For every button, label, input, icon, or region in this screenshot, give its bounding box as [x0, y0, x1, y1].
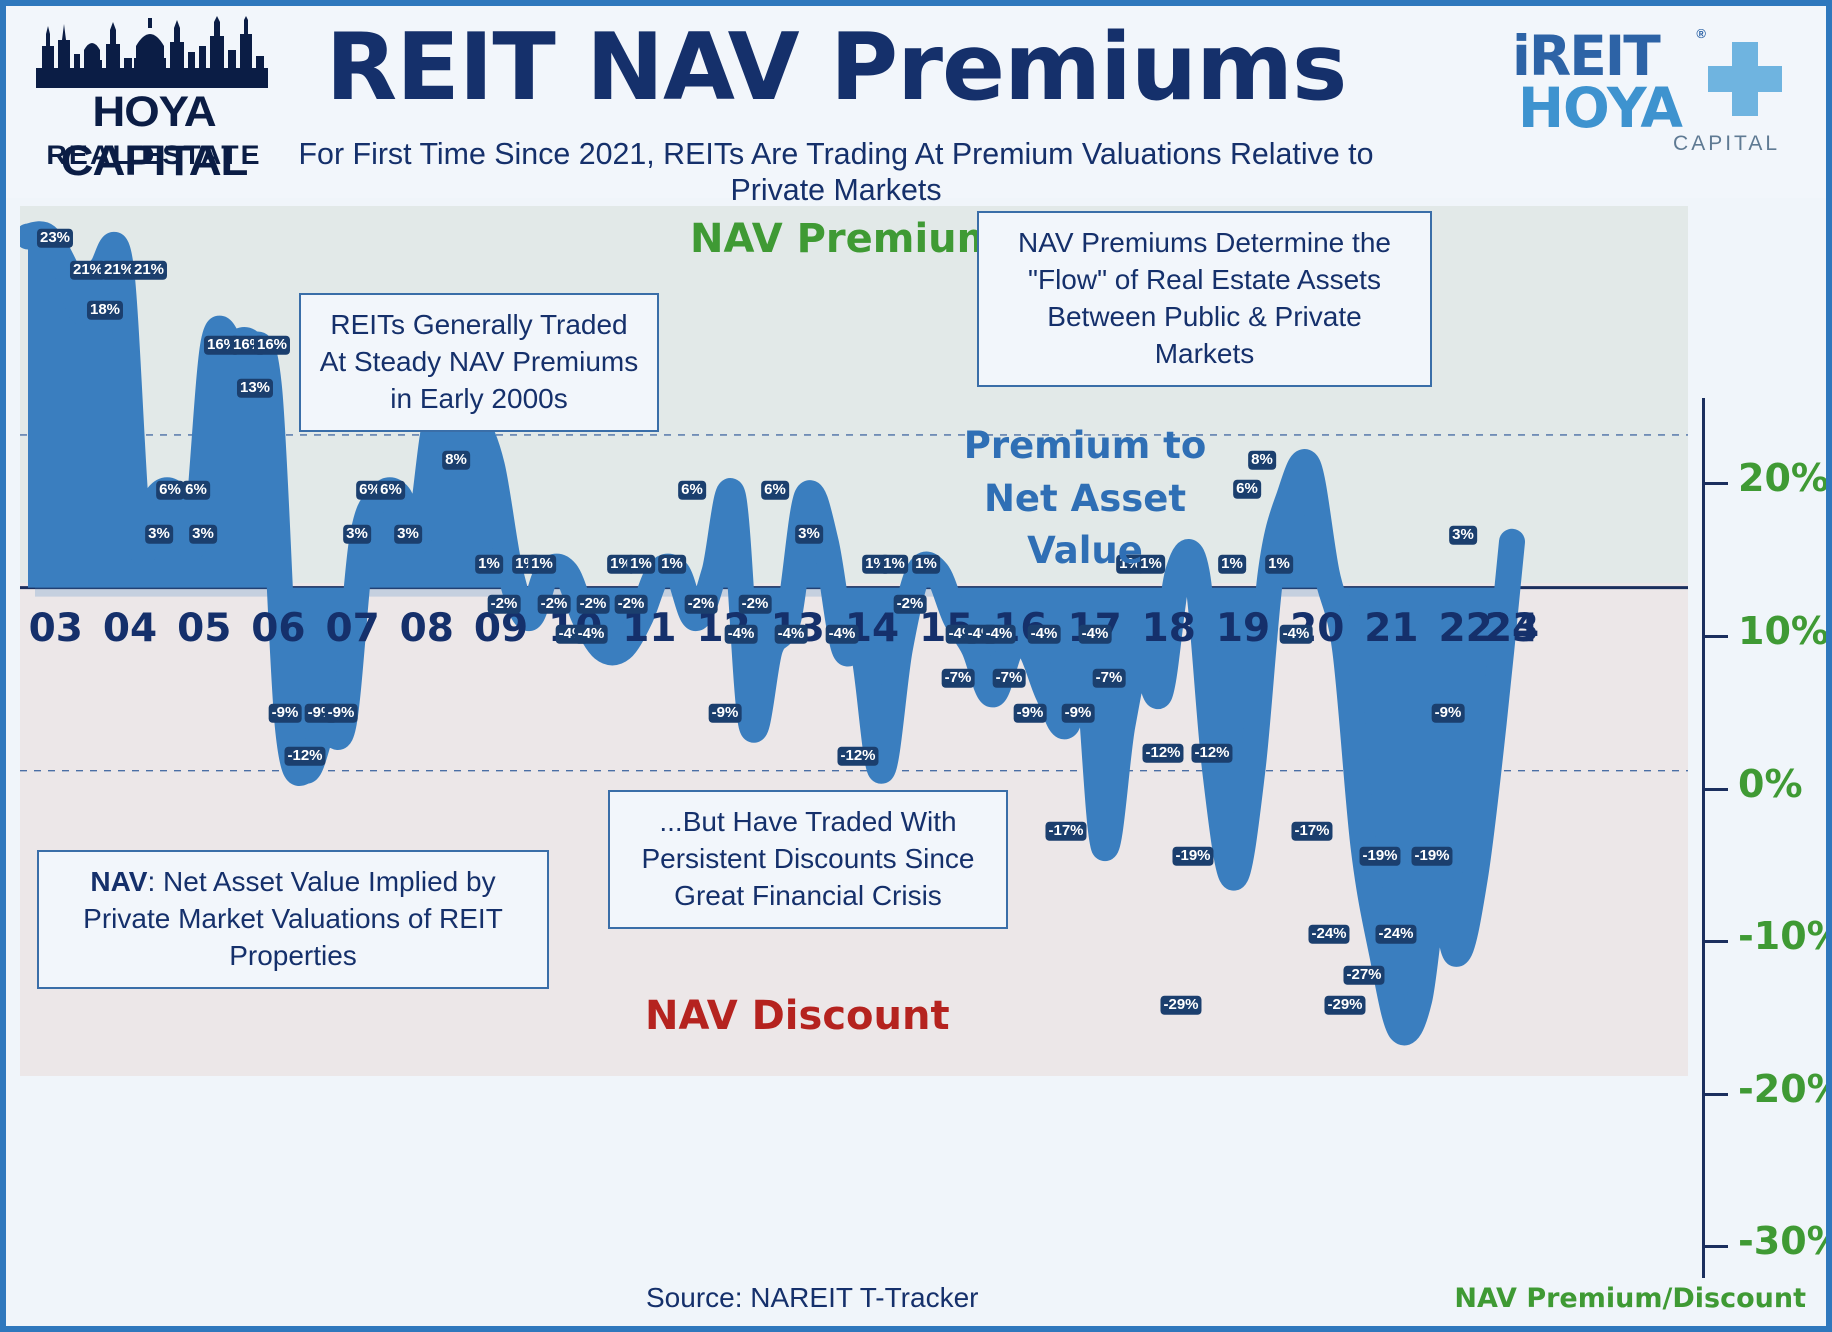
data-point-label: -4% — [575, 625, 608, 644]
y-tick-mark — [1702, 482, 1728, 485]
data-point-label: 3% — [189, 525, 217, 544]
nav-premium-zone-label: NAV Premium — [690, 216, 998, 262]
data-point-label: -24% — [1308, 925, 1349, 944]
y-tick-label: -20% — [1738, 1067, 1832, 1111]
data-point-label: -2% — [894, 595, 927, 614]
data-point-label: 21% — [131, 261, 167, 280]
x-axis-label: 04 — [103, 606, 157, 651]
source-note: Source: NAREIT T-Tracker — [646, 1282, 978, 1314]
data-point-label: 3% — [145, 525, 173, 544]
y-tick-label: 0% — [1738, 762, 1803, 806]
data-point-label: -19% — [1359, 847, 1400, 866]
nav-definition-rest: : Net Asset Value Implied by Private Mar… — [83, 866, 503, 971]
data-point-label: -4% — [983, 625, 1016, 644]
data-point-label: 6% — [1233, 480, 1261, 499]
cross-vertical-icon — [1732, 42, 1758, 116]
data-point-label: -2% — [739, 595, 772, 614]
data-point-label: 13% — [237, 379, 273, 398]
data-point-label: 1% — [658, 555, 686, 574]
data-point-label: 18% — [87, 301, 123, 320]
data-point-label: -9% — [709, 704, 742, 723]
data-point-label: -9% — [269, 704, 302, 723]
x-axis-label: 05 — [177, 606, 231, 651]
x-axis-label: 24 — [1485, 606, 1539, 651]
data-point-label: 8% — [442, 451, 470, 470]
x-axis-label: 06 — [251, 606, 305, 651]
data-point-label: -27% — [1343, 966, 1384, 985]
data-point-label: -4% — [725, 625, 758, 644]
annotation-persistent-discounts: ...But Have Traded With Persistent Disco… — [608, 790, 1008, 929]
x-axis-label: 21 — [1364, 606, 1418, 651]
y-tick-mark — [1702, 1093, 1728, 1096]
registered-trademark-icon: ® — [1696, 26, 1706, 41]
y-axis: 20%10%0%-10%-20%-30% — [1702, 398, 1832, 1278]
data-point-label: 6% — [377, 481, 405, 500]
y-tick-label: 20% — [1738, 456, 1829, 500]
data-point-label: 1% — [880, 555, 908, 574]
y-axis-spine — [1702, 398, 1705, 1278]
data-point-label: -7% — [942, 669, 975, 688]
y-tick-label: -30% — [1738, 1219, 1832, 1263]
y-tick-label: 10% — [1738, 609, 1829, 653]
y-tick-mark — [1702, 940, 1728, 943]
data-point-label: -29% — [1324, 996, 1365, 1015]
page-title: REIT NAV Premiums — [306, 20, 1366, 115]
hoya-logo-name: HOYA CAPITAL — [23, 88, 286, 186]
data-point-label: -2% — [685, 595, 718, 614]
data-point-label: 6% — [761, 481, 789, 500]
data-point-label: -19% — [1172, 847, 1213, 866]
data-point-label: 8% — [1248, 451, 1276, 470]
data-point-label: 1% — [1265, 555, 1293, 574]
x-axis-label: 18 — [1142, 606, 1196, 651]
data-point-label: 1% — [528, 555, 556, 574]
data-point-label: 6% — [678, 481, 706, 500]
data-point-label: -24% — [1375, 925, 1416, 944]
data-point-label: -2% — [538, 595, 571, 614]
nav-discount-zone-label: NAV Discount — [645, 993, 950, 1039]
x-axis-label: 08 — [400, 606, 454, 651]
nav-definition-bold: NAV — [90, 866, 147, 897]
y-tick-mark — [1702, 1245, 1728, 1248]
y-tick-mark — [1702, 635, 1728, 638]
data-point-label: -9% — [1062, 704, 1095, 723]
data-point-label: 1% — [475, 555, 503, 574]
data-point-label: -2% — [577, 595, 610, 614]
data-point-label: 1% — [627, 555, 655, 574]
data-point-label: 6% — [156, 481, 184, 500]
city-skyline-icon — [36, 16, 268, 88]
data-point-label: -4% — [1280, 625, 1313, 644]
data-point-label: -4% — [775, 625, 808, 644]
data-point-label: -12% — [1191, 744, 1232, 763]
data-point-label: 3% — [394, 525, 422, 544]
data-point-label: 23% — [37, 229, 73, 248]
data-point-label: -12% — [837, 747, 878, 766]
chart-legend: NAV Premium/Discount — [1454, 1283, 1806, 1314]
data-point-label: 3% — [343, 525, 371, 544]
data-point-label: -9% — [1432, 704, 1465, 723]
data-point-label: -4% — [1079, 625, 1112, 644]
y-tick-label: -10% — [1738, 914, 1832, 958]
data-point-label: -9% — [325, 704, 358, 723]
data-point-label: -7% — [993, 669, 1026, 688]
hoya-capital-logo: HOYA CAPITAL REAL ESTATE — [28, 12, 278, 192]
header: HOYA CAPITAL REAL ESTATE REIT NAV Premiu… — [6, 6, 1826, 198]
annotation-early-2000s: REITs Generally Traded At Steady NAV Pre… — [299, 293, 659, 432]
infographic-page: HOYA CAPITAL REAL ESTATE REIT NAV Premiu… — [0, 0, 1832, 1332]
x-axis-label: 07 — [325, 606, 379, 651]
data-point-label: 6% — [182, 481, 210, 500]
annotation-flow: NAV Premiums Determine the "Flow" of Rea… — [977, 211, 1432, 387]
data-point-label: 16% — [254, 336, 290, 355]
data-point-label: -4% — [1028, 625, 1061, 644]
data-point-label: -12% — [1142, 744, 1183, 763]
x-axis-label: 03 — [29, 606, 83, 651]
premium-to-nav-label: Premium to Net Asset Value — [940, 420, 1230, 578]
chart-container: 20%10%0%-10%-20%-30% 0304050607080910111… — [20, 198, 1812, 1264]
ireit-logo-line2: HOYA — [1518, 76, 1682, 140]
data-point-label: -17% — [1045, 822, 1086, 841]
annotation-nav-definition: NAV: Net Asset Value Implied by Private … — [37, 850, 549, 989]
data-point-label: 3% — [795, 525, 823, 544]
data-point-label: 1% — [912, 555, 940, 574]
data-point-label: -29% — [1160, 996, 1201, 1015]
data-point-label: -2% — [488, 595, 521, 614]
ireit-hoya-capital-logo: iREIT ® HOYA CAPITAL — [1512, 20, 1790, 152]
data-point-label: -19% — [1411, 847, 1452, 866]
premium-to-nav-text: Premium to Net Asset Value — [964, 424, 1207, 572]
x-axis-label: 19 — [1216, 606, 1270, 651]
data-point-label: -17% — [1291, 822, 1332, 841]
y-tick-mark — [1702, 788, 1728, 791]
data-point-label: -7% — [1093, 669, 1126, 688]
data-point-label: -12% — [284, 747, 325, 766]
data-point-label: -9% — [1014, 704, 1047, 723]
data-point-label: -2% — [615, 595, 648, 614]
ireit-logo-line3: CAPITAL — [1673, 132, 1780, 156]
data-point-label: -4% — [826, 625, 859, 644]
data-point-label: 3% — [1449, 526, 1477, 545]
hoya-logo-sub: REAL ESTATE — [24, 140, 284, 171]
